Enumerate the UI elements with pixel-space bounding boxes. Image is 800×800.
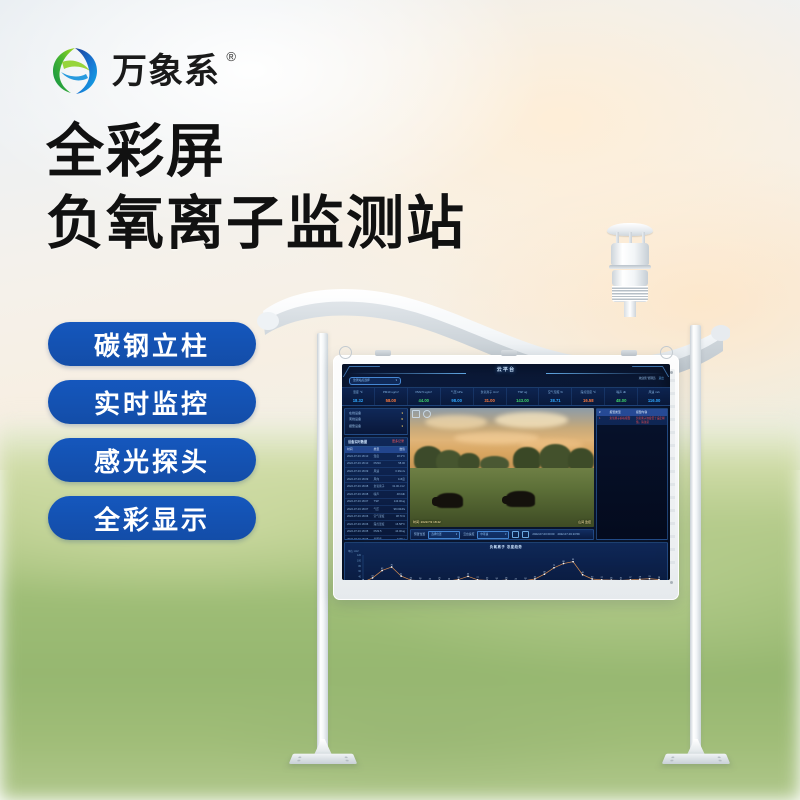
metric-negative-ion: 负氧离子 /cm³ 31.00	[474, 388, 507, 405]
led-screen: 云平台 监测站点选择 ▾ 欢迎您 管理员 退出 温度 ℃	[342, 364, 670, 580]
ultrasonic-weather-sensor-icon	[603, 223, 657, 315]
brand-name: 万象系 ®	[112, 54, 220, 89]
metric-label: PM2.5 ug/m³	[408, 391, 440, 395]
sensor-louver	[612, 286, 648, 302]
cabinet-vent	[670, 369, 675, 569]
svg-text:40: 40	[358, 575, 361, 578]
logout-button[interactable]: 退出	[659, 377, 664, 380]
camera-feed[interactable]: 时间: 2022/7/3 18:42 山间 监控	[410, 408, 594, 527]
record-icon[interactable]	[522, 531, 529, 538]
svg-text:22: 22	[515, 579, 518, 580]
alarm-row[interactable]: 1 负氧离子超标报警 负氧离子浓度低于设定阈值，请注意	[597, 416, 667, 426]
brand-logo: 万象系 ®	[48, 44, 220, 98]
product-banner: 万象系 ® 全彩屏 负氧离子监测站 碳钢立柱 实时监控 感光探头 全彩显示	[0, 0, 800, 800]
records-title: 设备实时数据	[348, 440, 367, 444]
headline-line-2: 负氧离子监测站	[46, 194, 466, 254]
preset-label: 预置位置	[414, 533, 425, 536]
registered-mark: ®	[226, 50, 237, 63]
metric-label: TSP ug	[507, 391, 539, 395]
svg-text:46: 46	[581, 572, 584, 574]
support-post-right	[690, 325, 701, 753]
svg-text:30: 30	[591, 576, 594, 578]
metric-label: 负氧离子 /cm³	[474, 391, 506, 395]
center-column: 时间: 2022/7/3 18:42 山间 监控 预置位置 选择位置 ▾ 云台速…	[410, 408, 594, 540]
svg-text:60: 60	[358, 570, 361, 573]
metric-label: 噪声 db	[605, 391, 637, 395]
feature-badge-realtime-monitoring: 实时监控	[48, 380, 256, 424]
feature-badge-full-color-display: 全彩显示	[48, 496, 256, 540]
station-select[interactable]: 监测站点选择 ▾	[349, 377, 401, 385]
alarm-columns: # 报警类型 报警内容	[597, 409, 667, 416]
post-base-left	[291, 739, 355, 765]
alarm-column: # 报警类型 报警内容 1 负氧离子超标报警 负氧离子浓度低于设定阈值，请注意	[596, 408, 668, 540]
fullscreen-icon[interactable]	[412, 410, 420, 418]
alarm-panel: # 报警类型 报警内容 1 负氧离子超标报警 负氧离子浓度低于设定阈值，请注意	[596, 408, 668, 540]
feature-badge-carbon-steel-column: 碳钢立柱	[48, 322, 256, 366]
base-plate	[289, 754, 358, 764]
table-row[interactable]: 2022-07-03 18:05PM2.544.00ug	[345, 529, 407, 537]
svg-text:22: 22	[429, 579, 432, 580]
svg-text:40: 40	[467, 574, 470, 576]
brand-name-text: 万象系	[112, 52, 220, 91]
metric-label: 温度 ℃	[342, 391, 374, 395]
svg-text:27: 27	[476, 577, 479, 579]
table-row[interactable]: 2022-07-03 18:05光照度0.00Lx	[345, 536, 407, 540]
svg-text:25: 25	[438, 578, 441, 580]
camera-control-bar: 预置位置 选择位置 ▾ 云台速度 中等速 ▾	[410, 529, 594, 540]
feature-badge-list: 碳钢立柱 实时监控 感光探头 全彩显示	[48, 322, 256, 540]
metric-label: 空气湿度 %	[539, 391, 571, 395]
feed-tools	[412, 410, 431, 418]
svg-text:26: 26	[410, 577, 413, 579]
sensor-stem	[624, 301, 636, 317]
svg-text:27: 27	[629, 577, 632, 579]
page-title: 全彩屏 负氧离子监测站	[46, 122, 466, 255]
svg-text:28: 28	[658, 577, 661, 579]
metric-value: 16.58	[572, 398, 604, 403]
metric-value: 18.32	[342, 398, 374, 403]
sphere-swoosh-logo-icon	[48, 44, 102, 98]
stat-label: 离线设备	[349, 418, 361, 422]
svg-text:27: 27	[601, 577, 604, 579]
table-row[interactable]: 2022-07-03 18:06空气湿度38.71%	[345, 514, 407, 522]
trend-chart-svg: 0204060801001201806-213406-226206-237506…	[347, 552, 663, 580]
svg-text:25: 25	[486, 578, 489, 580]
svg-text:24: 24	[419, 578, 422, 580]
table-row[interactable]: 2022-07-03 18:08噪声48.0db	[345, 491, 407, 499]
cloud-platform-dashboard: 云平台 监测站点选择 ▾ 欢迎您 管理员 退出 温度 ℃	[342, 364, 670, 580]
table-row[interactable]: 2022-07-03 18:10温度18.3℃	[345, 453, 407, 461]
svg-text:75: 75	[391, 564, 394, 566]
metric-value: 143.00	[507, 398, 539, 403]
metric-pm10: PM10 ug/m³ 58.00	[375, 388, 408, 405]
support-post-left	[317, 333, 328, 753]
left-column: 在线设备 1 离线设备 0 报警设备 1	[344, 408, 408, 540]
feed-location: 山间 监控	[578, 521, 591, 525]
metric-pm25: PM2.5 ug/m³ 44.00	[408, 388, 441, 405]
snapshot-icon[interactable]	[423, 410, 431, 418]
metric-label: 气压 kPa	[441, 391, 473, 395]
svg-text:31: 31	[648, 576, 651, 578]
metric-strip: 温度 ℃ 18.32 PM10 ug/m³ 58.00 PM2.5 ug/m³ …	[342, 387, 670, 406]
svg-text:95: 95	[572, 559, 575, 561]
svg-text:41: 41	[400, 573, 403, 575]
metric-humidity: 空气湿度 % 38.71	[539, 388, 572, 405]
svg-text:29: 29	[639, 577, 642, 579]
svg-text:26: 26	[610, 577, 613, 579]
more-records-link[interactable]: 更多记录	[392, 440, 404, 444]
sensor-ring	[609, 265, 651, 269]
time-to: 2022-07-03 23:59	[558, 533, 580, 536]
metric-value: 116.00	[638, 398, 670, 403]
chart-title: 负氧离子 浓度趋势	[345, 543, 667, 549]
table-row[interactable]: 2022-07-03 18:09风速0.36m/s	[345, 468, 407, 476]
dashboard-title: 云平台	[342, 367, 670, 373]
svg-text:25: 25	[620, 578, 623, 580]
user-area: 欢迎您 管理员 退出	[639, 377, 664, 380]
svg-text:24: 24	[496, 578, 499, 580]
trend-chart-panel: 负氧离子 浓度趋势 单位: /cm³ 0204060801001201806-2…	[344, 542, 668, 580]
metric-value: 98.00	[441, 398, 473, 403]
device-stats-panel: 在线设备 1 离线设备 0 报警设备 1	[344, 408, 408, 435]
chevron-down-icon: ▾	[456, 533, 457, 536]
metric-noise: 噪声 db 48.00	[605, 388, 638, 405]
table-row[interactable]: 2022-07-03 18:06露点温度16.58℃	[345, 521, 407, 529]
sensor-body-lower	[612, 270, 648, 286]
base-plate	[662, 754, 731, 764]
table-row[interactable]: 2022-07-03 18:09风向116度	[345, 476, 407, 484]
stat-label: 报警设备	[349, 425, 361, 429]
metric-windspeed: 风速 m/s 116.00	[638, 388, 670, 405]
metric-pressure: 气压 kPa 98.00	[441, 388, 474, 405]
svg-text:120: 120	[357, 554, 362, 557]
speed-label: 云台速度	[463, 533, 474, 536]
time-from: 2022-07-03 00:00	[532, 533, 554, 536]
metric-value: 48.00	[605, 398, 637, 403]
stat-row: 在线设备 1	[349, 412, 403, 416]
records-panel: 设备实时数据 更多记录 时间 类型 数值 2022-07-03 18:10温度1…	[344, 437, 408, 540]
svg-text:23: 23	[448, 578, 451, 580]
table-row[interactable]: 2022-07-03 18:07TSP143.00ug	[345, 499, 407, 507]
metric-label: 风速 m/s	[638, 391, 670, 395]
stat-value: 1	[401, 412, 403, 416]
stat-row: 离线设备 0	[349, 418, 403, 422]
svg-text:88: 88	[562, 561, 565, 563]
chevron-down-icon: ▾	[396, 379, 397, 382]
metric-value: 38.71	[539, 398, 571, 403]
records-header: 设备实时数据 更多记录	[345, 438, 407, 447]
stat-value: 0	[401, 418, 403, 422]
feed-timestamp: 时间: 2022/7/3 18:42	[413, 521, 441, 525]
stat-value: 1	[401, 425, 403, 429]
svg-text:26: 26	[505, 577, 508, 579]
table-row[interactable]: 2022-07-03 18:08负氧离子31.00 /cm³	[345, 483, 407, 491]
dashboard-header: 云平台 监测站点选择 ▾ 欢迎您 管理员 退出	[342, 364, 670, 386]
svg-text:100: 100	[357, 559, 362, 562]
metric-tsp: TSP ug 143.00	[507, 388, 540, 405]
monitoring-station: 云平台 监测站点选择 ▾ 欢迎您 管理员 退出 温度 ℃	[255, 255, 745, 775]
stat-label: 在线设备	[349, 412, 361, 416]
capture-icon[interactable]	[512, 531, 519, 538]
metric-value: 44.00	[408, 398, 440, 403]
table-row[interactable]: 2022-07-03 18:10PM1058.00	[345, 461, 407, 469]
headline-line-1: 全彩屏	[46, 122, 466, 182]
preset-select[interactable]: 选择位置 ▾	[428, 531, 460, 539]
metric-label: 露点温度 ℃	[572, 391, 604, 395]
feature-badge-photosensitive-probe: 感光探头	[48, 438, 256, 482]
chevron-down-icon: ▾	[505, 533, 506, 536]
stat-row: 报警设备 1	[349, 425, 403, 429]
display-cabinet: 云平台 监测站点选择 ▾ 欢迎您 管理员 退出 温度 ℃	[333, 355, 679, 600]
metric-dewpoint: 露点温度 ℃ 16.58	[572, 388, 605, 405]
metric-value: 31.00	[474, 398, 506, 403]
dashboard-body: 在线设备 1 离线设备 0 报警设备 1	[342, 406, 670, 542]
post-base-right	[664, 739, 728, 765]
metric-value: 58.00	[375, 398, 407, 403]
svg-text:24: 24	[524, 578, 527, 580]
metric-temperature: 温度 ℃ 18.32	[342, 388, 375, 405]
metric-label: PM10 ug/m³	[375, 391, 407, 395]
alarm-empty-area	[597, 425, 667, 539]
sensor-body-upper	[611, 243, 649, 265]
svg-text:28: 28	[457, 577, 460, 579]
user-label: 欢迎您 管理员	[639, 377, 656, 380]
table-row[interactable]: 2022-07-03 18:07气压98.00kPa	[345, 506, 407, 514]
records-rows: 2022-07-03 18:10温度18.3℃2022-07-03 18:10P…	[345, 453, 407, 540]
station-select-value: 监测站点选择	[353, 379, 370, 382]
svg-text:80: 80	[358, 565, 361, 568]
speed-select[interactable]: 中等速 ▾	[477, 531, 509, 539]
